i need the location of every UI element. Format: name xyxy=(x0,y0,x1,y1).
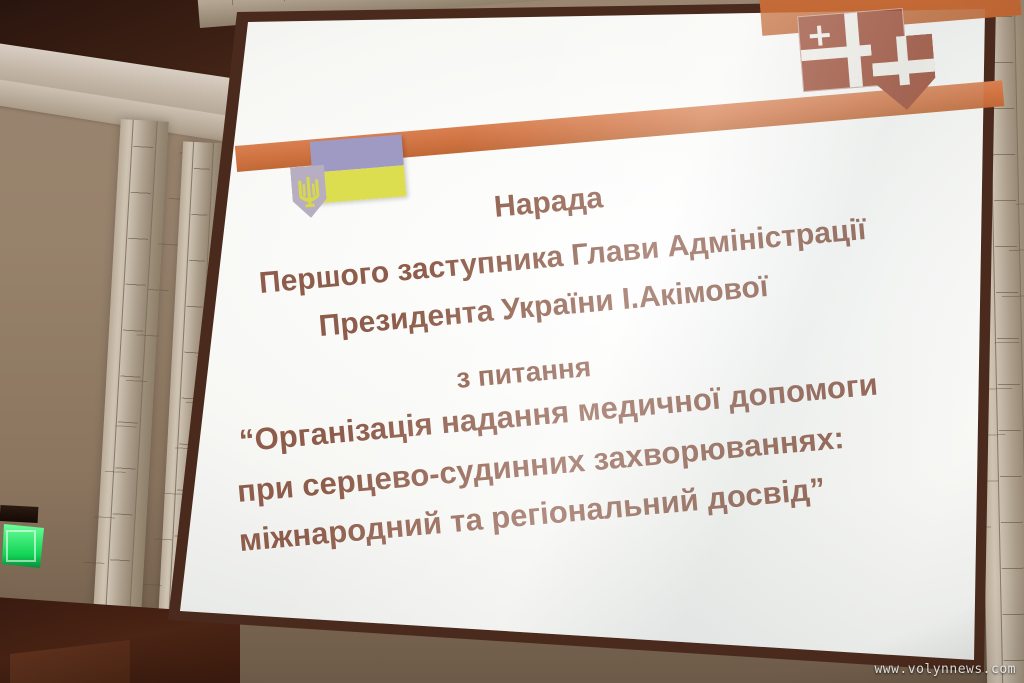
emergency-exit-sign-icon xyxy=(2,524,44,568)
exit-sign-bracket xyxy=(0,505,38,523)
photo-scene: Нарада Першого заступника Глави Адмініст… xyxy=(0,0,1024,683)
pilaster-ornament xyxy=(989,0,1024,683)
wall-pilaster-right xyxy=(973,0,1024,683)
watermark: www.volynnews.com xyxy=(874,662,1016,677)
